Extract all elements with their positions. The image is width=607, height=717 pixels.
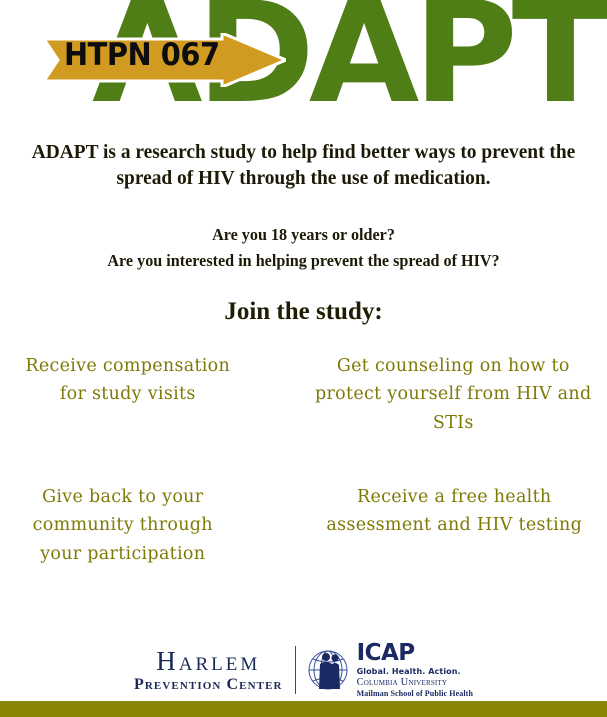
headline-line-1: ADAPT is a research study to help find b… (30, 140, 576, 166)
harlem-logo-main: Harlem (134, 647, 283, 675)
icap-university: Columbia University (357, 678, 473, 689)
harlem-prevention-center-logo: Harlem Prevention Center (134, 647, 295, 694)
icap-name: ICAP (357, 642, 473, 665)
logo-divider (295, 646, 296, 694)
benefits-row-top: Receive compensation for study visits Ge… (8, 352, 599, 437)
flyer-page: ADAPT HTPN 067 ADAPT is a research study… (0, 0, 607, 717)
question-interest: Are you interested in helping prevent th… (36, 248, 571, 274)
benefit-item-community: Give back to your community through your… (8, 483, 304, 568)
question-age: Are you 18 years or older? (36, 222, 571, 248)
icap-school: Mailman School of Public Health (357, 690, 473, 698)
harlem-logo-sub: Prevention Center (134, 676, 283, 694)
icap-text-block: ICAP Global. Health. Action. Columbia Un… (357, 642, 473, 698)
benefit-item-compensation: Receive compensation for study visits (8, 352, 304, 437)
join-the-study-title: Join the study: (22, 298, 585, 326)
benefit-item-health-assessment: Receive a free health assessment and HIV… (304, 483, 600, 568)
footer-logos: Harlem Prevention Center (0, 641, 607, 699)
headline: ADAPT is a research study to help find b… (30, 140, 576, 191)
icap-logo: ICAP Global. Health. Action. Columbia Un… (306, 642, 473, 698)
benefit-item-counseling: Get counseling on how to protect yoursel… (304, 352, 600, 437)
eligibility-questions: Are you 18 years or older? Are you inter… (36, 222, 571, 275)
icap-tagline: Global. Health. Action. (357, 668, 473, 676)
adapt-logo-band: ADAPT HTPN 067 (0, 0, 607, 133)
benefits-grid: Receive compensation for study visits Ge… (8, 352, 599, 568)
bottom-accent-bar (0, 701, 607, 717)
globe-with-figures-icon (306, 647, 352, 693)
benefits-row-bottom: Give back to your community through your… (8, 483, 599, 568)
htpn-study-label: HTPN 067 (64, 40, 220, 71)
headline-line-2: spread of HIV through the use of medicat… (30, 166, 576, 192)
